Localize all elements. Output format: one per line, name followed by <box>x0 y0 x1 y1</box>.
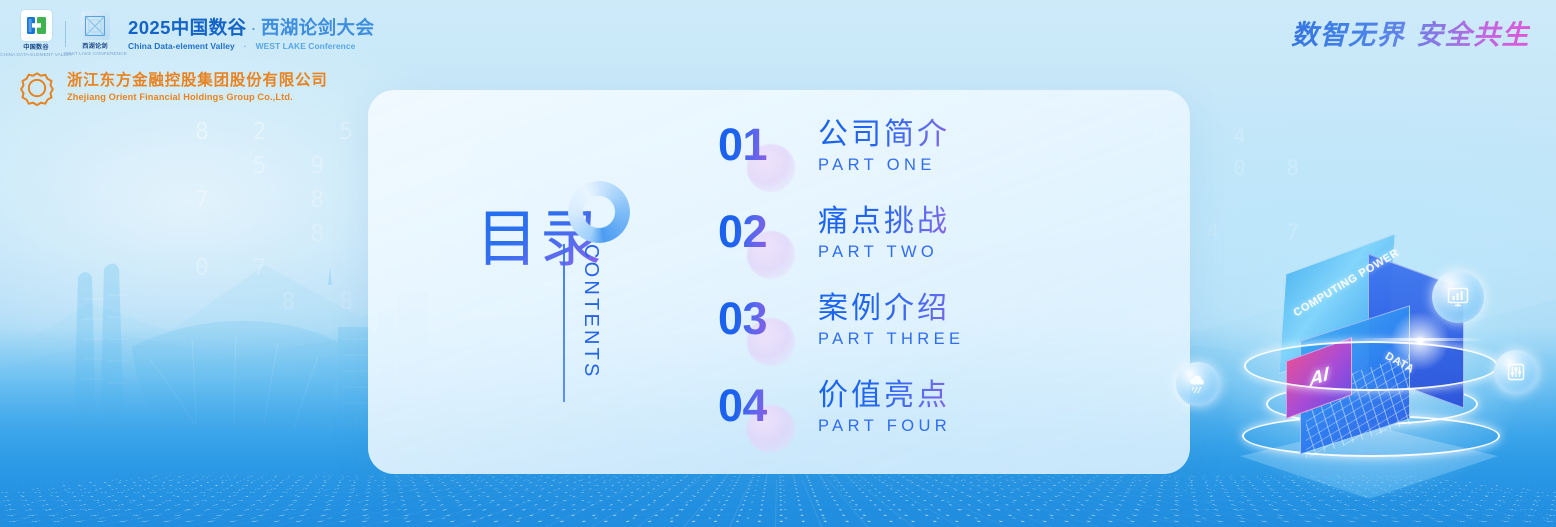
contents-item-text-group: 公司简介 PART ONE <box>818 116 950 175</box>
slogan-part-two: 安全共生 <box>1416 20 1530 50</box>
contents-item-number: 04 <box>718 383 767 428</box>
contents-item-number-group: 04 <box>718 383 810 447</box>
badge-sliders <box>1494 350 1538 394</box>
contents-card: 目录 CONTENTS 01 公司简介 PART ONE 02 <box>368 90 1190 474</box>
conference-slogan: 数智无界=安全共生 <box>1291 13 1530 52</box>
artwork-orbit-ring-top <box>1244 341 1498 391</box>
badge-cloud-data <box>1176 362 1220 406</box>
company-name-en: Zhejiang Orient Financial Holdings Group… <box>67 92 328 102</box>
contents-heading-en: CONTENTS <box>579 244 602 380</box>
presentation-slide: 8 2 5 0 1 5 9 6 4 7 8 8 1 0 7 9 3 6 8 8 … <box>0 0 1556 527</box>
conference-logo-row: 中国数谷 CHINA DATA-ELEMENT VALLEY 西湖论剑 WEST… <box>16 10 374 58</box>
contents-item-number: 01 <box>718 122 767 167</box>
company-name-block: 浙江东方金融控股集团股份有限公司 Zhejiang Orient Financi… <box>67 73 328 102</box>
conference-title-cn-primary: 中国数谷 <box>171 17 247 38</box>
contents-item-number-group: 02 <box>718 209 810 273</box>
sliders-icon <box>1506 362 1526 382</box>
company-name-cn: 浙江东方金融控股集团股份有限公司 <box>67 73 328 90</box>
logo-west-lake-conference: 西湖论剑 WEST LAKE CONFERENCE <box>75 11 115 57</box>
logo-divider <box>65 21 66 47</box>
contents-item-title-en: PART ONE <box>818 156 950 175</box>
logo-west-lake-cn: 西湖论剑 <box>82 41 108 50</box>
contents-item-02[interactable]: 02 痛点挑战 PART TWO <box>718 203 1148 290</box>
conference-title-en-secondary: WEST LAKE Conference <box>256 41 356 51</box>
conference-title-separator: · <box>250 17 257 38</box>
contents-item-01[interactable]: 01 公司简介 PART ONE <box>718 116 1148 203</box>
china-data-valley-mark-icon <box>21 10 52 41</box>
contents-item-number-group: 03 <box>718 296 810 360</box>
contents-vertical-divider <box>563 244 565 402</box>
logo-west-lake-en: WEST LAKE CONFERENCE <box>63 51 126 57</box>
contents-item-title-cn: 公司简介 <box>818 116 950 154</box>
contents-item-03[interactable]: 03 案例介绍 PART THREE <box>718 290 1148 377</box>
monitor-chart-icon <box>1446 285 1470 309</box>
contents-item-text-group: 案例介绍 PART THREE <box>818 290 964 349</box>
contents-item-title-en: PART TWO <box>818 243 950 262</box>
company-branding-row: 浙江东方金融控股集团股份有限公司 Zhejiang Orient Financi… <box>18 69 374 107</box>
slogan-divider: = <box>1405 24 1416 49</box>
logo-china-data-valley-en: CHINA DATA-ELEMENT VALLEY <box>0 52 72 58</box>
contents-item-number: 02 <box>718 209 767 254</box>
west-lake-mark-icon <box>81 11 110 40</box>
conference-title-en-primary: China Data-element Valley <box>128 41 235 51</box>
conference-title-year: 2025 <box>128 17 171 38</box>
west-lake-glyph-icon <box>84 15 106 37</box>
contents-heading-group: 目录 CONTENTS <box>476 178 636 408</box>
conference-title-block: 2025中国数谷·西湖论剑大会 China Data-element Valle… <box>128 17 374 51</box>
conference-title-cn: 2025中国数谷·西湖论剑大会 <box>128 17 374 38</box>
contents-item-04[interactable]: 04 价值亮点 PART FOUR <box>718 377 1148 464</box>
conference-title-en: China Data-element Valley · WEST LAKE Co… <box>128 41 374 51</box>
contents-item-number-group: 01 <box>718 122 810 186</box>
data-valley-glyph-icon <box>26 15 47 36</box>
conference-title-cn-secondary: 西湖论剑大会 <box>261 17 374 38</box>
slogan-part-one: 数智无界 <box>1291 20 1405 50</box>
header-left-branding: 中国数谷 CHINA DATA-ELEMENT VALLEY 西湖论剑 WEST… <box>16 10 374 107</box>
orient-financial-emblem-icon <box>18 69 56 107</box>
cloud-data-icon <box>1187 373 1209 395</box>
contents-item-text-group: 痛点挑战 PART TWO <box>818 203 950 262</box>
badge-monitor-chart <box>1432 271 1484 323</box>
decorative-ring-icon <box>568 181 630 243</box>
decorative-3d-artwork: AI COMPUTING POWER DATA <box>1180 237 1556 527</box>
contents-item-title-cn: 案例介绍 <box>818 290 964 328</box>
contents-item-title-en: PART THREE <box>818 330 964 349</box>
logo-china-data-valley: 中国数谷 CHINA DATA-ELEMENT VALLEY <box>16 10 56 58</box>
contents-item-title-cn: 痛点挑战 <box>818 203 950 241</box>
contents-item-list: 01 公司简介 PART ONE 02 痛点挑战 PART TWO <box>718 116 1148 464</box>
logo-china-data-valley-cn: 中国数谷 <box>23 42 49 51</box>
contents-item-number: 03 <box>718 296 767 341</box>
contents-item-text-group: 价值亮点 PART FOUR <box>818 377 951 436</box>
conference-title-en-dot: · <box>244 41 247 51</box>
contents-item-title-en: PART FOUR <box>818 417 951 436</box>
contents-item-title-cn: 价值亮点 <box>818 377 951 415</box>
